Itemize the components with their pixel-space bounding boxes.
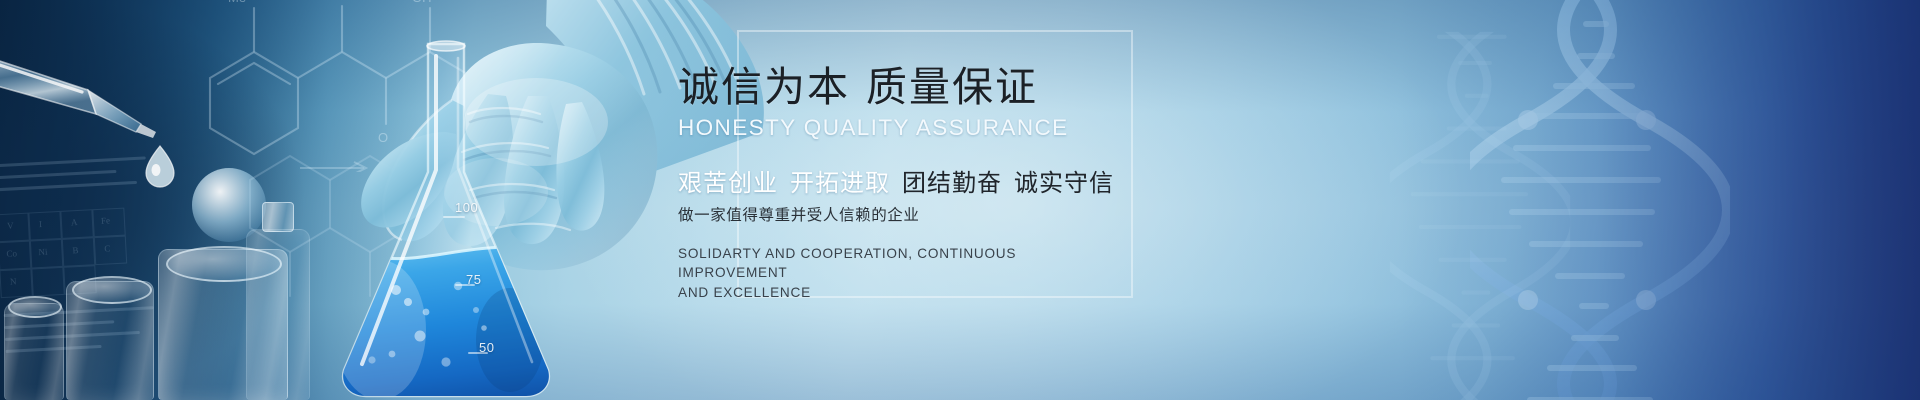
page-title: 诚信为本质量保证: [678, 64, 1318, 111]
footer-english-line-1: SOLIDARTY AND COOPERATION, CONTINUOUS IM…: [678, 244, 1098, 283]
slogan-segment-3: 团结勤奋: [902, 170, 1002, 197]
tagline: 做一家值得尊重并受人信赖的企业: [678, 203, 1318, 225]
flask-graduation-label: 75: [466, 272, 481, 287]
slogan-segment-4: 诚实守信: [1014, 170, 1114, 197]
slogan-segment-1: 艰苦创业: [678, 170, 778, 197]
slogan-segment-2: 开拓进取: [790, 170, 890, 197]
right-dark-vignette: [1400, 0, 1920, 400]
banner-text-block: 诚信为本质量保证 HONESTY QUALITY ASSURANCE 艰苦创业开…: [678, 64, 1318, 302]
lab-bottle-tall-back: [246, 229, 310, 400]
slogan-line: 艰苦创业开拓进取团结勤奋诚实守信: [678, 163, 1318, 198]
flask-graduation-label: 100: [455, 200, 478, 215]
hero-banner: V I A Fe Co Ni B C N Me: [0, 0, 1920, 400]
footer-english: SOLIDARTY AND COOPERATION, CONTINUOUS IM…: [678, 244, 1098, 302]
footer-english-line-2: AND EXCELLENCE: [678, 283, 1098, 302]
subtitle-english: HONESTY QUALITY ASSURANCE: [678, 115, 1318, 141]
lab-bottle-mouth: [72, 276, 152, 304]
headline-part-2: 质量保证: [866, 64, 1038, 110]
lab-bottle-mouth: [8, 296, 62, 318]
erlenmeyer-flask: [300, 40, 630, 400]
flask-graduation-tick: [443, 216, 465, 218]
lab-bottle-neck: [262, 202, 294, 232]
pipette-dropper: [0, 28, 230, 283]
flask-graduation-label: 50: [479, 340, 494, 355]
headline-part-1: 诚信为本: [678, 64, 850, 110]
